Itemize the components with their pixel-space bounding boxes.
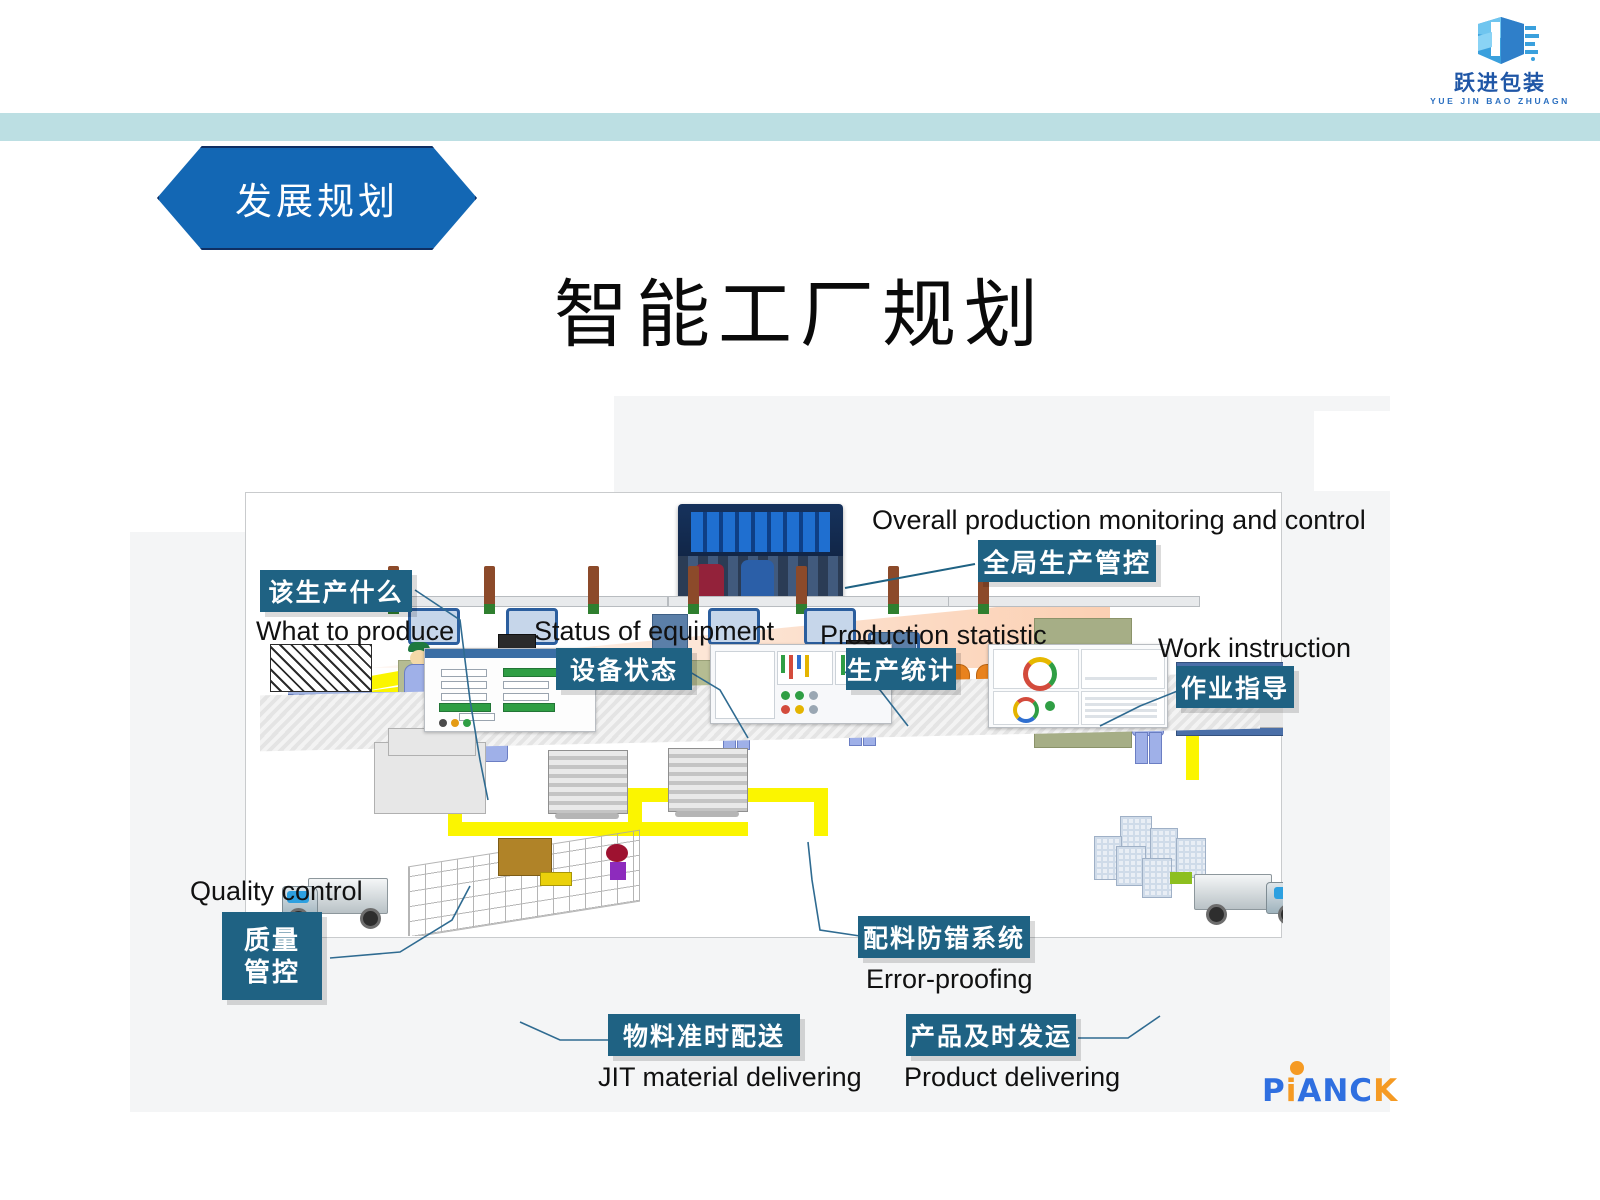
signal-post-2	[484, 566, 495, 612]
callout-en-work-instruction: Work instruction	[1158, 633, 1351, 664]
package-cube-logo-icon	[1461, 14, 1539, 72]
planck-i: i	[1286, 1073, 1298, 1109]
signal-post-6	[888, 566, 899, 612]
red-part	[606, 844, 628, 862]
purple-part	[610, 862, 626, 880]
planck-watermark: PiANCK	[1262, 1073, 1398, 1109]
callout-cn-equipment-status[interactable]: 设备状态	[556, 648, 692, 690]
signal-post-5	[796, 566, 807, 612]
signal-post-4	[688, 566, 699, 612]
material-cart-2	[668, 748, 748, 812]
callout-en-product-delivering: Product delivering	[904, 1062, 1120, 1093]
callout-cn-overall[interactable]: 全局生产管控	[978, 540, 1156, 582]
production-statistics-screenshot	[988, 644, 1168, 728]
callout-en-production-statistic: Production statistic	[820, 620, 1047, 651]
callout-en-equipment-status: Status of equipment	[534, 616, 774, 647]
planck-p: P	[1262, 1073, 1286, 1109]
logo-pinyin-text: YUE JIN BAO ZHUAGN	[1430, 96, 1570, 106]
page-title: 智能工厂规划	[0, 278, 1600, 352]
overhead-rail-2	[668, 596, 970, 607]
callout-cn-product-delivering[interactable]: 产品及时发运	[906, 1014, 1076, 1056]
callout-cn-production-statistic[interactable]: 生产统计	[846, 648, 956, 690]
callout-en-error-proofing: Error-proofing	[866, 964, 1033, 995]
logo-chinese-text: 跃进包装	[1454, 73, 1546, 95]
callout-cn-error-proofing[interactable]: 配料防错系统	[858, 916, 1030, 958]
parts-bin-left	[270, 644, 372, 692]
aisle-path-mid	[448, 822, 748, 836]
header-accent-band	[0, 113, 1600, 141]
smart-factory-diagram	[130, 396, 1390, 1112]
callout-cn-jit-material[interactable]: 物料准时配送	[608, 1014, 800, 1056]
planck-dot-icon	[1290, 1061, 1304, 1075]
section-chip[interactable]: 发展规划	[157, 146, 477, 250]
agv-yellow	[540, 872, 572, 886]
section-chip-label: 发展规划	[157, 146, 477, 250]
planck-anc: ANC	[1297, 1073, 1373, 1109]
callout-en-what-to-produce: What to produce	[256, 616, 454, 647]
aisle-path-mid-5	[814, 788, 828, 836]
material-cart-1	[548, 750, 628, 814]
callout-cn-work-instruction[interactable]: 作业指导	[1176, 666, 1294, 708]
quality-control-line-2: 管控	[244, 956, 300, 989]
diagram-upper-white-patch	[1314, 411, 1390, 491]
company-logo: 跃进包装 YUE JIN BAO ZHUAGN	[1420, 14, 1580, 109]
wip-stack-1-top	[388, 728, 476, 756]
signal-post-3	[588, 566, 599, 612]
pallet-box-gold	[498, 838, 552, 876]
callout-en-quality-control: Quality control	[190, 876, 363, 907]
callout-en-overall: Overall production monitoring and contro…	[872, 505, 1366, 536]
callout-en-jit-material: JIT material delivering	[598, 1062, 862, 1093]
callout-cn-what-to-produce[interactable]: 该生产什么	[260, 570, 412, 612]
planck-k: K	[1373, 1073, 1398, 1109]
quality-control-line-1: 质量	[244, 924, 300, 957]
outbound-truck	[1194, 870, 1283, 928]
callout-cn-quality-control[interactable]: 质量 管控	[222, 912, 322, 1000]
slide-root: 跃进包装 YUE JIN BAO ZHUAGN 发展规划 智能工厂规划	[0, 0, 1600, 1200]
